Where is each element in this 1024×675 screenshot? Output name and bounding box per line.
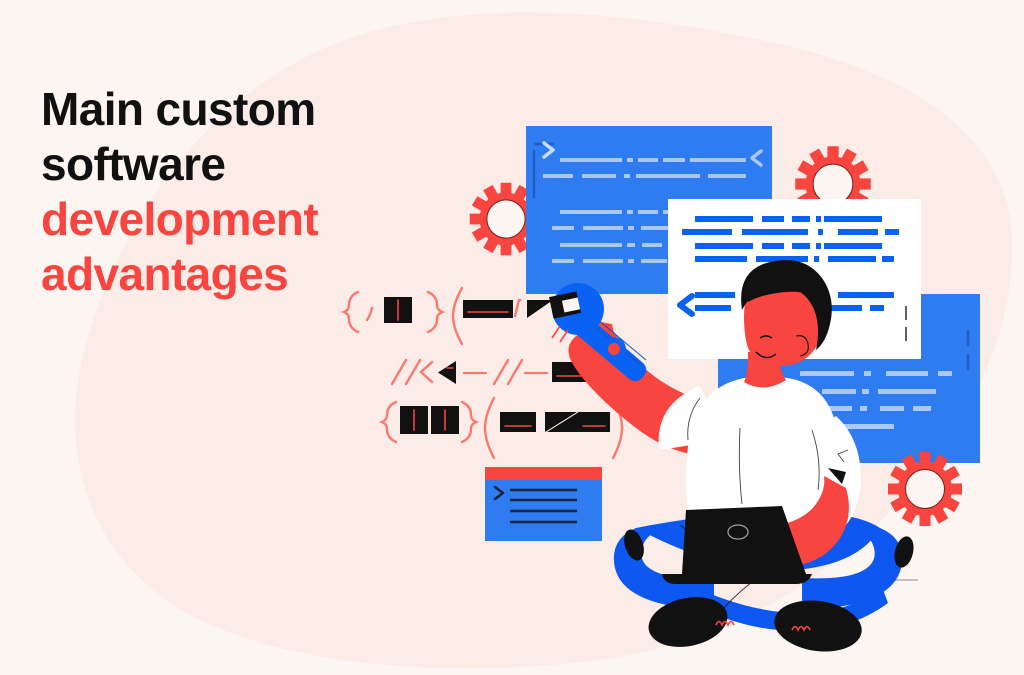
angle-left-icon [421,362,432,382]
paren-open-icon [485,398,494,458]
laptop-base [662,574,812,584]
illustration-canvas: Main custom software development advanta… [0,0,1024,675]
terminal-title-bar [485,467,602,480]
slash-icon [494,360,508,384]
glyph-row-2 [392,360,588,384]
triangle-right-icon [527,300,553,318]
paren-open-icon [453,288,462,344]
small-terminal-window [485,467,602,541]
slash-icon [406,360,420,384]
glyph-row-3 [382,398,622,458]
bar-block-icon [578,412,610,432]
developer-illustration [0,0,1024,675]
brace-open-icon [344,292,358,332]
brace-close-icon [462,402,476,442]
brace-close-icon [428,292,442,332]
gear-bottom-right-icon [888,452,962,526]
bar-block-icon [500,412,536,432]
triangle-left-icon [438,361,456,384]
glyph-row-1 [344,288,570,344]
slash-icon [392,360,406,384]
brace-open-icon [382,402,396,442]
comma-icon [367,308,372,320]
slash-icon [508,360,522,384]
bar-block-icon [463,300,513,318]
